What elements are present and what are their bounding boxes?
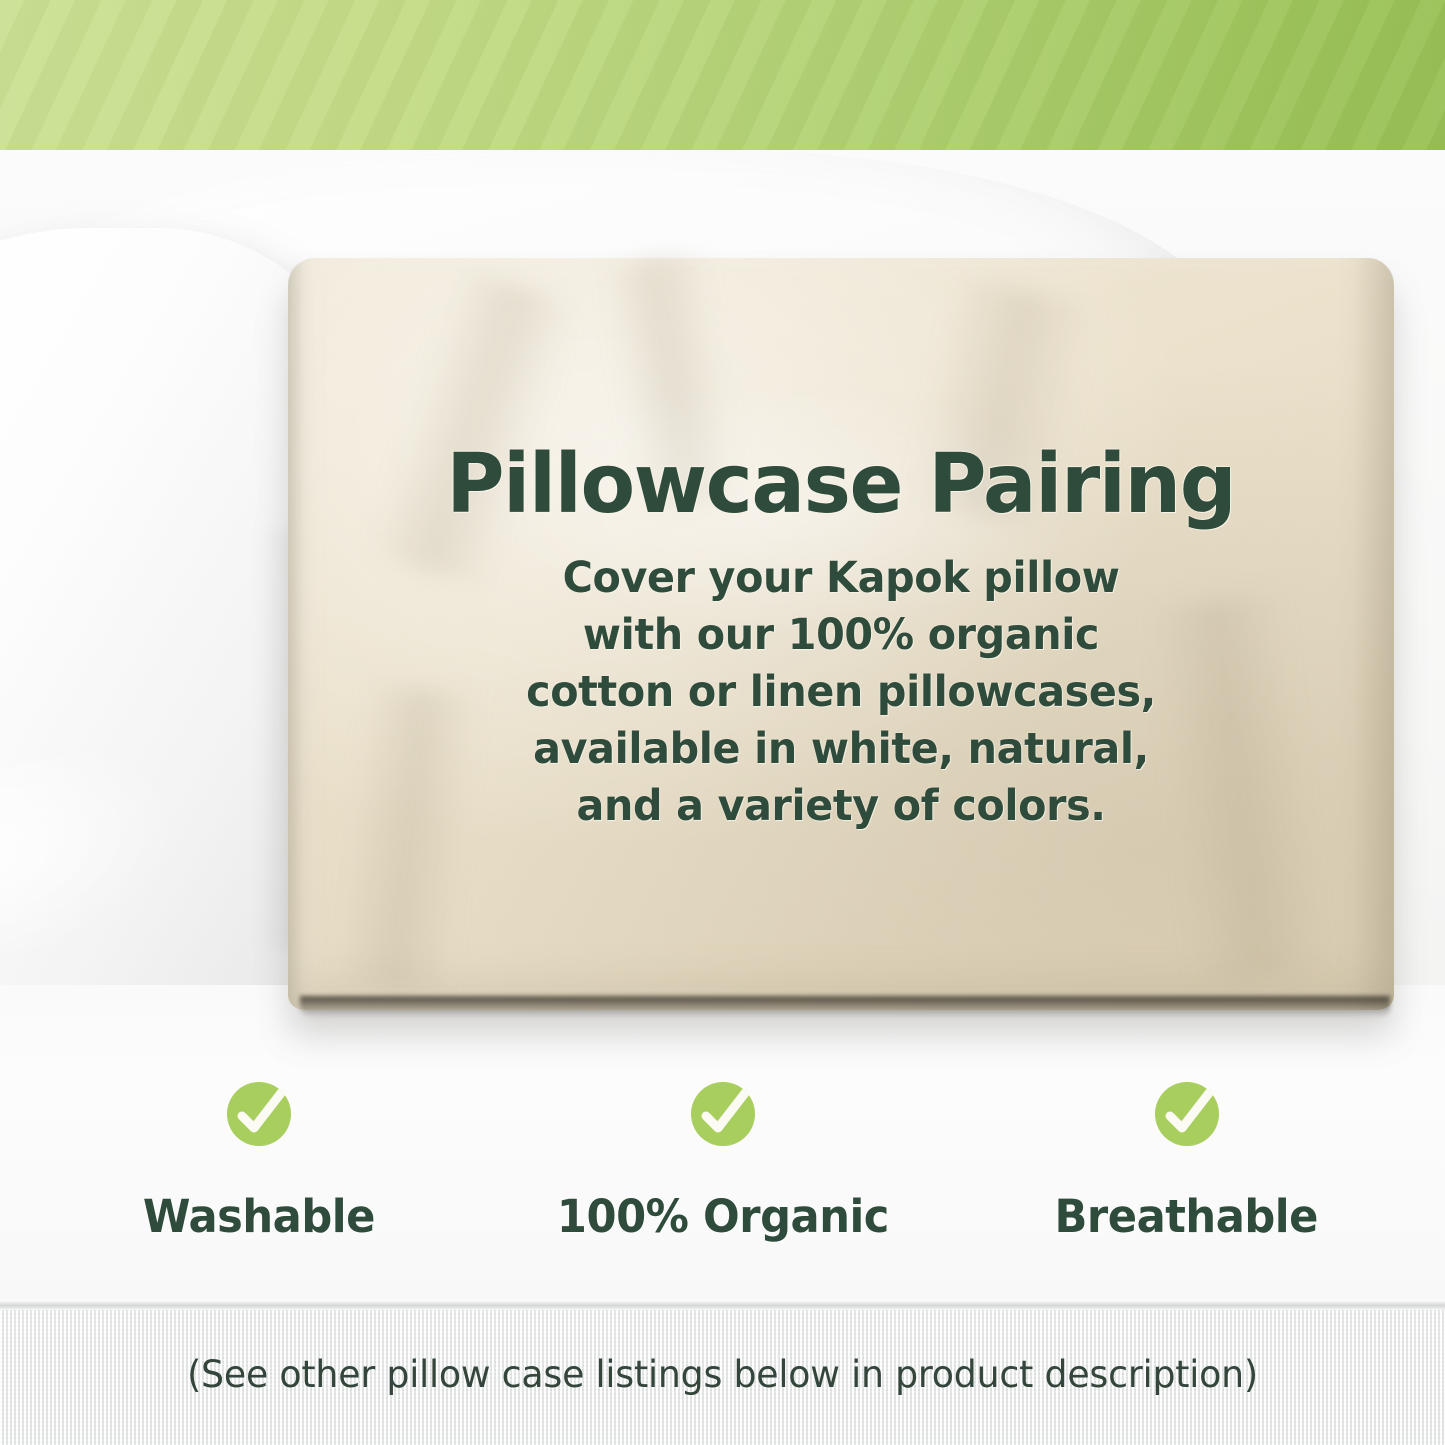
feature-label: 100% Organic [556, 1194, 888, 1239]
page-title: Pillowcase Pairing [446, 444, 1235, 526]
description-line: cotton or linen pillowcases, [526, 664, 1156, 721]
check-circle-icon [689, 1080, 757, 1148]
feature-label: Washable [142, 1194, 374, 1239]
pillow-copy-block: Pillowcase Pairing Cover your Kapok pill… [288, 258, 1394, 1010]
feature-item-washable: Washable [109, 1080, 409, 1239]
product-image-canvas: Pillowcase Pairing Cover your Kapok pill… [0, 0, 1445, 1445]
description-line: Cover your Kapok pillow [526, 550, 1156, 607]
feature-badge-row: Washable 100% Organic Breathable [0, 1080, 1445, 1239]
description-line: with our 100% organic [526, 607, 1156, 664]
feature-item-organic: 100% Organic [573, 1080, 873, 1239]
check-circle-icon [1153, 1080, 1221, 1148]
check-circle-icon [225, 1080, 293, 1148]
feature-item-breathable: Breathable [1037, 1080, 1337, 1239]
feature-label: Breathable [1055, 1194, 1318, 1239]
description-line: and a variety of colors. [526, 778, 1156, 835]
footer-note: (See other pillow case listings below in… [14, 1356, 1430, 1393]
pillow-description: Cover your Kapok pillow with our 100% or… [526, 550, 1156, 835]
description-line: available in white, natural, [526, 721, 1156, 778]
mattress-seam [0, 1300, 1445, 1310]
